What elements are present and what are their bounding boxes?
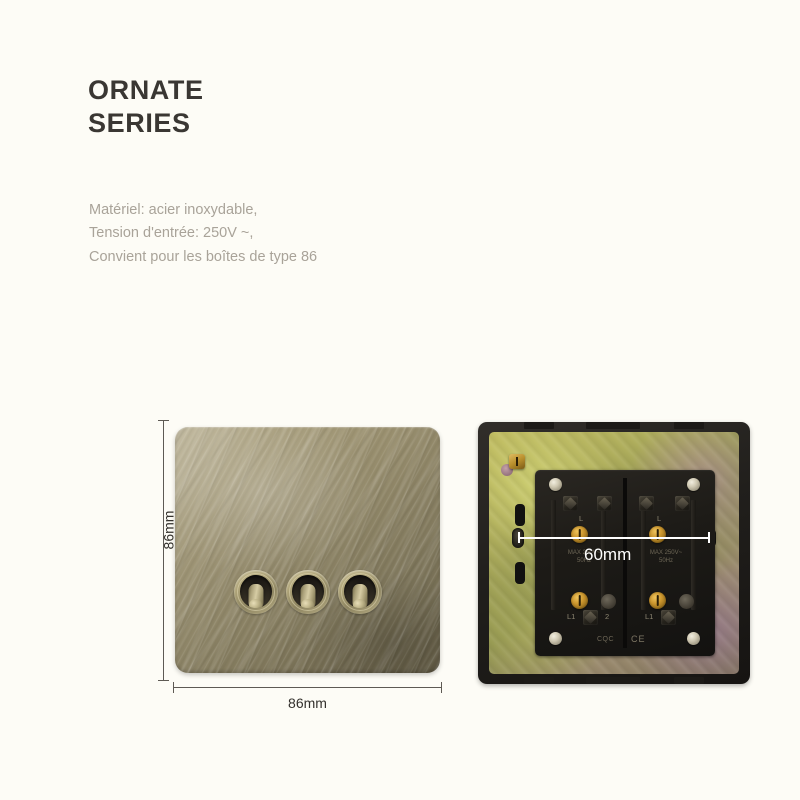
brass-screw-L1-left[interactable] xyxy=(571,592,588,609)
plate-sheen-overlay xyxy=(175,427,440,673)
terminal-label-L-left: L xyxy=(579,514,583,523)
plate-brushed-texture-layer-2 xyxy=(175,427,440,673)
rivet-bottom-left xyxy=(549,632,562,645)
terminal-label-L1-right: L1 xyxy=(645,612,653,621)
clamp-terminal-top-2[interactable] xyxy=(597,496,612,511)
toggle-well-3 xyxy=(344,575,376,608)
earth-screw[interactable] xyxy=(509,454,525,469)
back-outer-bezel: L L MAX 250V~ 50Hz MAX 250V~ 50Hz L1 2 xyxy=(478,422,750,684)
page-title: ORNATE SERIES xyxy=(88,74,204,140)
clamp-terminal-top-4[interactable] xyxy=(675,496,690,511)
clamp-terminal-bottom-2[interactable] xyxy=(661,610,676,625)
port-hole-right xyxy=(679,594,694,609)
plate-brushed-texture-layer-3 xyxy=(175,427,440,673)
rivet-top-right xyxy=(687,478,700,491)
rivet-top-left xyxy=(549,478,562,491)
toggle-lever-3[interactable] xyxy=(352,584,367,608)
toggle-switch-2[interactable] xyxy=(286,570,330,614)
back-view-group: L L MAX 250V~ 50Hz MAX 250V~ 50Hz L1 2 xyxy=(478,422,750,684)
dimension-cap-height-bottom xyxy=(158,680,169,681)
frame-tab-top-3 xyxy=(674,422,704,429)
dimension-line-height xyxy=(163,420,164,680)
dimension-cap-height-top xyxy=(158,420,169,421)
dimension-cap-width-right xyxy=(441,682,442,693)
toggle-well-2 xyxy=(292,575,324,608)
spec-line-material: Matériel: acier inoxydable, xyxy=(89,199,317,222)
certification-logo-mark: CQC xyxy=(597,636,614,643)
specification-list: Matériel: acier inoxydable, Tension d'en… xyxy=(89,199,317,269)
dimension-label-width: 86mm xyxy=(160,695,455,711)
frame-slot-left-top xyxy=(515,504,525,526)
plate-brushed-texture-layer-1 xyxy=(175,427,440,673)
toggle-lever-2[interactable] xyxy=(300,584,315,608)
brass-screw-L-right[interactable] xyxy=(649,526,666,543)
clamp-terminal-top-1[interactable] xyxy=(563,496,578,511)
frame-tab-top-1 xyxy=(524,422,554,429)
port-hole-left xyxy=(601,594,616,609)
front-view-group: 86mm xyxy=(160,400,460,730)
rivet-bottom-right xyxy=(687,632,700,645)
frame-tab-bottom-1 xyxy=(524,677,554,684)
header-block: ORNATE SERIES xyxy=(88,74,204,140)
dimension-cap-width-left xyxy=(173,682,174,693)
brass-screw-L1-right[interactable] xyxy=(649,592,666,609)
dimension-cap-mount-right xyxy=(708,532,710,543)
toggle-switch-row xyxy=(234,570,382,614)
terminal-label-L1-left: L1 xyxy=(567,612,575,621)
rating-label-right: MAX 250V~ 50Hz xyxy=(635,550,697,565)
spec-line-voltage: Tension d'entrée: 250V ~, xyxy=(89,222,317,245)
dimension-line-mount xyxy=(518,537,710,539)
ce-mark: CE xyxy=(631,634,646,644)
brass-screw-L-left[interactable] xyxy=(571,526,588,543)
frame-slot-left-bottom xyxy=(515,562,525,584)
clamp-terminal-top-3[interactable] xyxy=(639,496,654,511)
terminal-label-2: 2 xyxy=(605,612,609,621)
dimension-line-width xyxy=(173,687,441,688)
frame-tab-bottom-2 xyxy=(586,677,640,684)
zinc-plated-mounting-frame: L L MAX 250V~ 50Hz MAX 250V~ 50Hz L1 2 xyxy=(489,432,739,674)
product-image-area: 86mm xyxy=(0,400,800,740)
dimension-label-mount: 60mm xyxy=(584,545,631,565)
frame-tab-bottom-3 xyxy=(674,677,704,684)
toggle-well-1 xyxy=(240,575,272,608)
spec-line-boxtype: Convient pour les boîtes de type 86 xyxy=(89,246,317,269)
dimension-cap-mount-left xyxy=(518,532,520,543)
toggle-lever-1[interactable] xyxy=(248,584,263,608)
toggle-switch-3[interactable] xyxy=(338,570,382,614)
terminal-label-L-right: L xyxy=(657,514,661,523)
switch-front-plate xyxy=(175,427,440,673)
frame-tab-top-2 xyxy=(586,422,640,429)
clamp-terminal-bottom-1[interactable] xyxy=(583,610,598,625)
toggle-switch-1[interactable] xyxy=(234,570,278,614)
